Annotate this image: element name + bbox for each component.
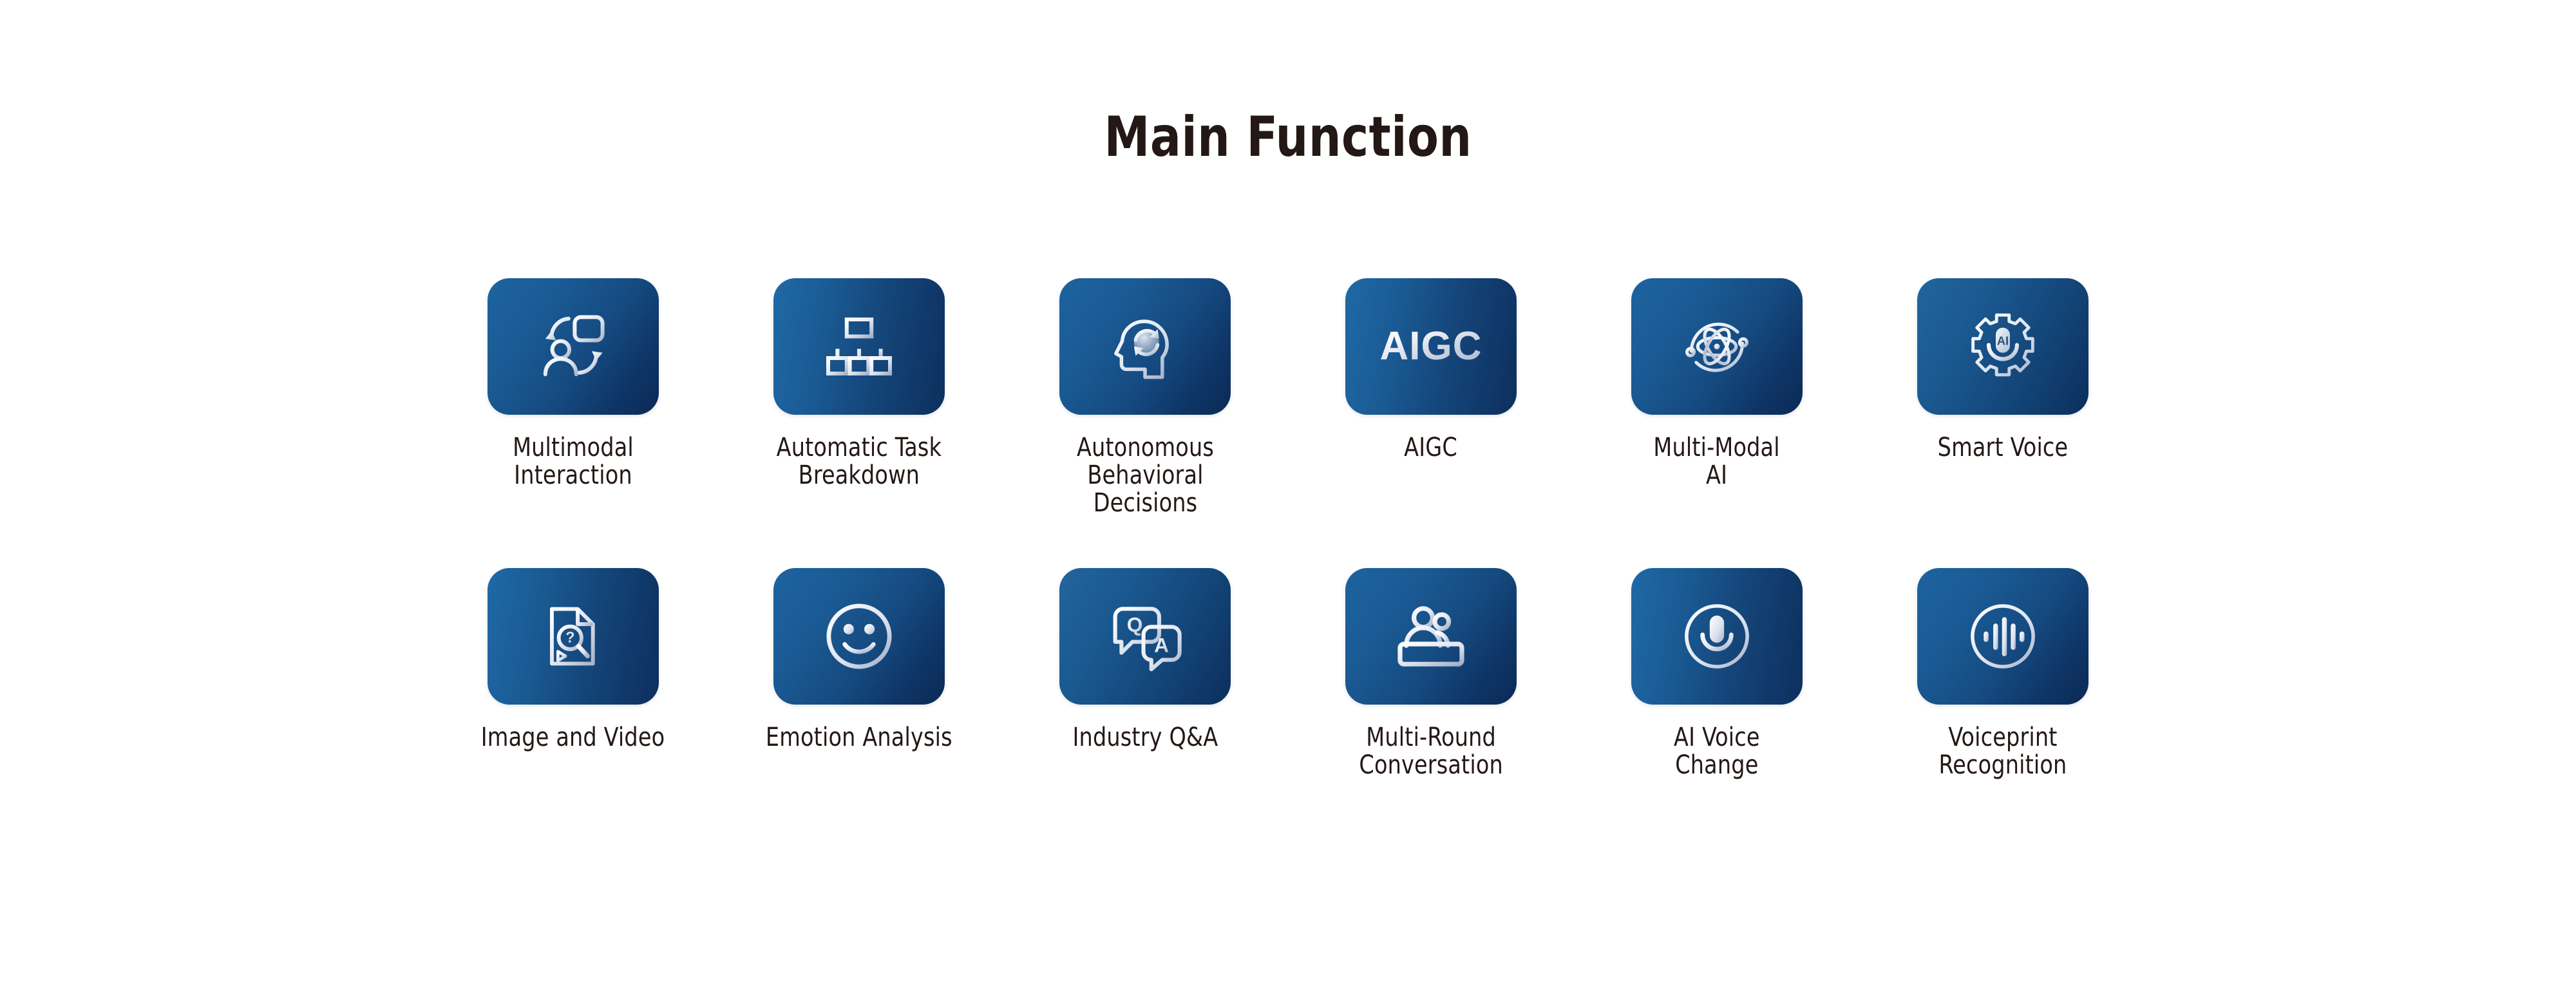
task-breakdown-hierarchy-icon — [820, 308, 898, 385]
smiley-face-icon — [819, 596, 899, 676]
feature-tile[interactable]: Q A — [1059, 568, 1231, 705]
document-magnifier-play-icon: ? — [535, 598, 611, 674]
svg-text:AI: AI — [1997, 334, 2009, 348]
feature-item-voiceprint-recognition[interactable]: Voiceprint Recognition — [1880, 568, 2125, 779]
feature-tile[interactable]: AIGC — [1345, 278, 1517, 415]
feature-label: Multi-Modal AI — [1654, 434, 1780, 489]
atom-orbit-icon — [1677, 307, 1757, 386]
feature-item-ai-voice-change[interactable]: AI Voice Change — [1595, 568, 1839, 779]
svg-text:?: ? — [565, 629, 574, 645]
svg-text:Q: Q — [1127, 612, 1143, 636]
main-function-section: Main Function — [0, 0, 2576, 1006]
feature-label: Multimodal Interaction — [513, 434, 634, 489]
feature-label: Industry Q&A — [1072, 724, 1218, 752]
feature-tile[interactable] — [1345, 568, 1517, 705]
feature-grid: Multimodal Interaction — [451, 278, 2125, 779]
feature-tile[interactable] — [1631, 568, 1803, 705]
feature-tile[interactable] — [773, 278, 945, 415]
feature-tile[interactable] — [773, 568, 945, 705]
feature-label: Autonomous Behavioral Decisions — [1077, 434, 1214, 518]
feature-tile[interactable] — [1631, 278, 1803, 415]
feature-row-1: Multimodal Interaction — [451, 278, 2125, 518]
gear-microphone-ai-icon: AI — [1964, 307, 2042, 386]
multimodal-interaction-icon — [535, 308, 612, 385]
feature-tile[interactable] — [488, 278, 659, 415]
feature-item-image-and-video[interactable]: ? Image and Video — [451, 568, 696, 752]
feature-label: Voiceprint Recognition — [1939, 724, 2067, 779]
feature-item-industry-qa[interactable]: Q A Industry Q&A — [1023, 568, 1267, 752]
qa-speech-bubbles-icon: Q A — [1106, 597, 1184, 676]
two-people-podium-icon — [1392, 598, 1470, 675]
feature-label: Emotion Analysis — [766, 724, 952, 752]
feature-tile[interactable]: AI — [1917, 278, 2088, 415]
aigc-text-icon: AIGC — [1380, 327, 1482, 366]
feature-item-automatic-task-breakdown[interactable]: Automatic Task Breakdown — [737, 278, 981, 489]
feature-item-multimodal-interaction[interactable]: Multimodal Interaction — [451, 278, 696, 489]
feature-item-autonomous-behavioral-decisions[interactable]: Autonomous Behavioral Decisions — [1023, 278, 1267, 518]
feature-label: AIGC — [1405, 434, 1458, 462]
feature-row-2: ? Image and Video — [451, 568, 2125, 779]
feature-label: Automatic Task Breakdown — [777, 434, 942, 489]
feature-tile[interactable] — [1059, 278, 1231, 415]
feature-label: Image and Video — [481, 724, 665, 752]
microphone-circle-icon — [1677, 596, 1757, 676]
svg-text:A: A — [1154, 633, 1169, 656]
feature-label: Multi-Round Conversation — [1359, 724, 1502, 779]
head-refresh-cycle-icon — [1106, 307, 1184, 386]
feature-label: Smart Voice — [1938, 434, 2069, 462]
feature-tile[interactable]: ? — [488, 568, 659, 705]
feature-item-emotion-analysis[interactable]: Emotion Analysis — [737, 568, 981, 752]
feature-tile[interactable] — [1917, 568, 2088, 705]
waveform-circle-icon — [1963, 596, 2043, 676]
page-title: Main Function — [103, 108, 2473, 166]
feature-label: AI Voice Change — [1674, 724, 1760, 779]
feature-item-multi-modal-ai[interactable]: Multi-Modal AI — [1595, 278, 1839, 489]
feature-item-smart-voice[interactable]: AI Smart Voice — [1880, 278, 2125, 462]
feature-item-aigc[interactable]: AIGC AIGC — [1309, 278, 1553, 462]
feature-item-multi-round-conversation[interactable]: Multi-Round Conversation — [1309, 568, 1553, 779]
